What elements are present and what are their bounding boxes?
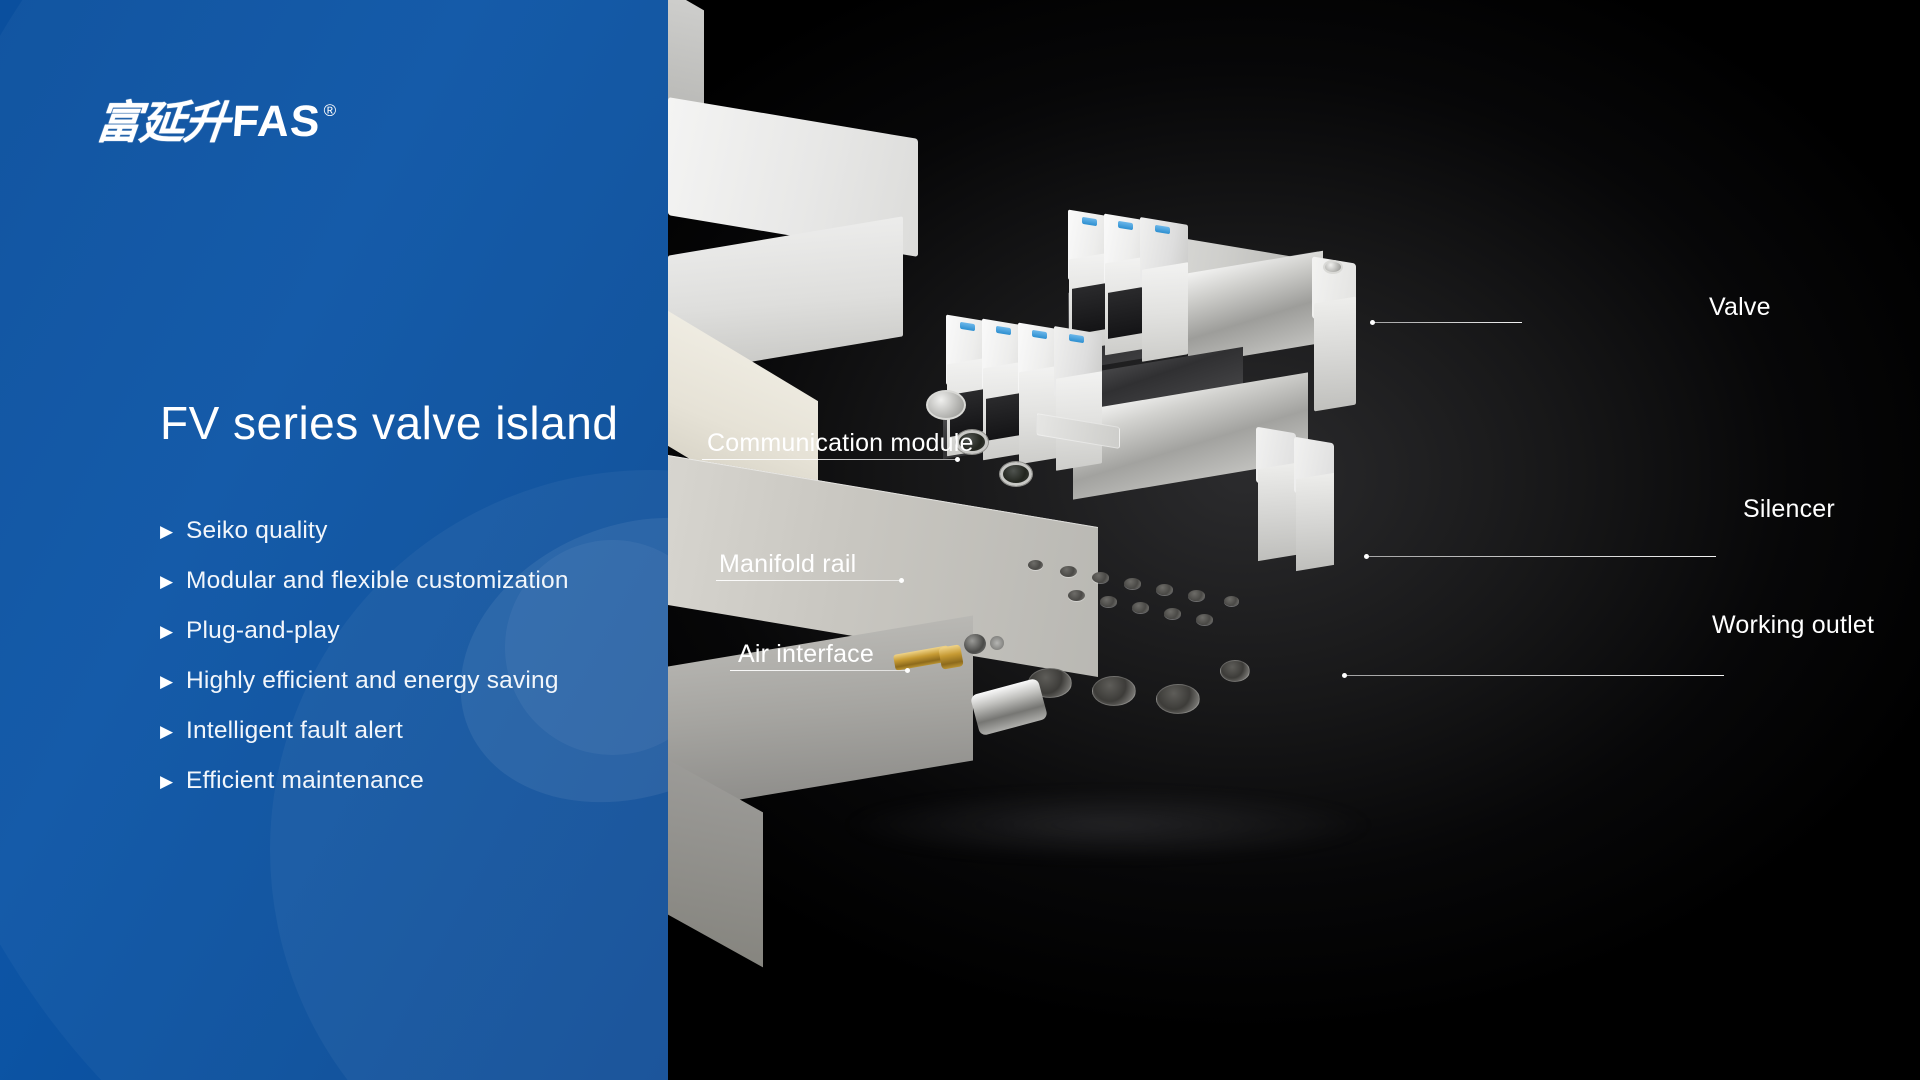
feature-label: Highly efficient and energy saving [186,667,559,695]
list-item: ▶ Modular and flexible customization [160,556,630,606]
leader-dot-silencer [1364,554,1369,559]
manifold-port [1060,566,1077,577]
bullet-triangle-icon: ▶ [160,773,186,790]
page-title: FV series valve island [160,396,618,450]
slide-root: 富延升 FAS ® FV series valve island ▶ Seiko… [0,0,1920,1080]
bullet-triangle-icon: ▶ [160,623,186,640]
manifold-port [1164,608,1181,619]
brand-logo[interactable]: 富延升 FAS ® [96,100,336,145]
logo-latin-wordmark: FAS [230,100,322,144]
bullet-triangle-icon: ▶ [160,723,186,740]
leader-line-valve [1374,322,1522,323]
leader-dot-manifold-rail [899,578,904,583]
leader-dot-valve [1370,320,1375,325]
leader-dot-working-outlet [1342,673,1347,678]
manifold-bore [1156,684,1200,714]
list-item: ▶ Seiko quality [160,506,630,556]
callout-label-manifold-rail: Manifold rail [719,550,856,579]
upper-endplate-screw-icon [1323,260,1343,274]
air-fitting-seal [990,636,1004,650]
feature-list: ▶ Seiko quality ▶ Modular and flexible c… [160,506,630,806]
callout-label-working-outlet: Working outlet [1712,611,1874,640]
list-item: ▶ Highly efficient and energy saving [160,656,630,706]
manifold-port [1092,572,1109,583]
manifold-port [1224,596,1239,606]
manifold-port [1068,590,1085,601]
feature-label: Plug-and-play [186,617,340,645]
brass-air-fitting-hex [938,644,963,669]
silencer-adapter-chrome [970,678,1048,737]
feature-label: Modular and flexible customization [186,567,569,595]
list-item: ▶ Intelligent fault alert [160,706,630,756]
exhaust-block-face-2 [1296,473,1334,571]
leader-line-communication-module [702,459,958,460]
manifold-port [1196,614,1213,625]
manifold-bore [1220,660,1250,682]
upper-endplate-face [1314,296,1356,411]
leader-dot-air-interface [905,668,910,673]
feature-label: Seiko quality [186,517,328,545]
leader-line-air-interface [730,670,908,671]
manifold-port [1028,560,1043,570]
manifold-port [1156,584,1173,595]
manifold-bore [1092,676,1136,706]
feature-label: Intelligent fault alert [186,717,403,745]
list-item: ▶ Efficient maintenance [160,756,630,806]
manifold-port [1132,602,1149,613]
comm-port-2-icon [1000,462,1032,486]
manifold-port [1100,596,1117,607]
bullet-triangle-icon: ▶ [160,673,186,690]
list-item: ▶ Plug-and-play [160,606,630,656]
leader-line-silencer [1368,556,1716,557]
callout-label-valve: Valve [1709,293,1771,322]
manifold-port [1124,578,1141,589]
exhaust-block-face-1 [1258,463,1296,561]
logo-chinese-characters: 富延升 [94,100,231,145]
left-info-panel: 富延升 FAS ® FV series valve island ▶ Seiko… [0,0,668,1080]
product-stage [668,0,1920,1080]
callout-label-communication-module: Communication module [707,429,974,458]
callout-label-silencer: Silencer [1743,495,1835,524]
callout-label-air-interface: Air interface [738,640,874,669]
product-image-valve-island [668,0,1920,1080]
manifold-port [1188,590,1205,601]
leader-line-manifold-rail [716,580,902,581]
bullet-triangle-icon: ▶ [160,573,186,590]
registered-trademark-icon: ® [324,102,337,119]
bullet-triangle-icon: ▶ [160,523,186,540]
leader-line-working-outlet [1346,675,1724,676]
comm-m12-connector-icon [926,390,966,420]
feature-label: Efficient maintenance [186,767,424,795]
product-ground-shadow [848,790,1368,860]
